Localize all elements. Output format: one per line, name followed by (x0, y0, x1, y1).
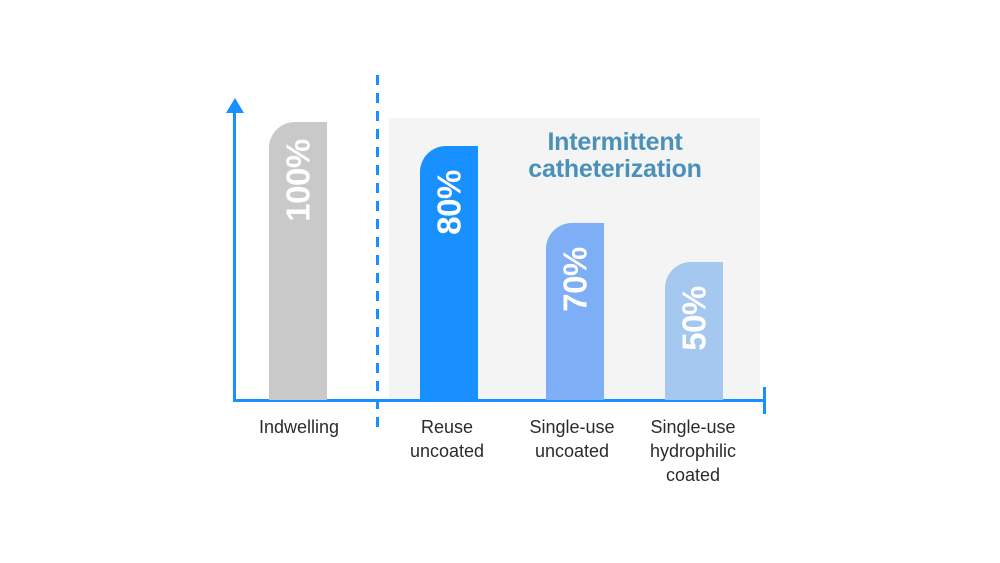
bar-single-use-uncoated: 70% (546, 223, 604, 400)
category-label-reuse-uncoated: Reuse uncoated (386, 416, 508, 464)
category-label-indwelling: Indwelling (218, 416, 380, 440)
bar-value-label: 80% (433, 170, 466, 235)
y-axis-line (233, 110, 236, 402)
category-label-line-1: Reuse (386, 416, 508, 440)
bar-indwelling: 100% (269, 122, 327, 400)
category-label-single-use-hydrophilic-coated: Single-use hydrophilic coated (630, 416, 756, 487)
bar-reuse-uncoated: 80% (420, 146, 478, 400)
group-title-line-1: Intermittent (470, 129, 760, 156)
group-title-line-2: catheterization (470, 156, 760, 183)
chart-figure: Intermittent catheterization 100% 80% 70… (0, 0, 1000, 563)
category-label-line-2: uncoated (386, 440, 508, 464)
category-label-line-2: uncoated (511, 440, 633, 464)
category-label-line-3: coated (630, 464, 756, 488)
group-divider-dashed-line (376, 75, 379, 430)
bar-value-label: 100% (282, 139, 315, 221)
intermittent-group-title: Intermittent catheterization (470, 129, 760, 183)
bar-value-label: 50% (678, 286, 711, 351)
category-label-line-1: Single-use (630, 416, 756, 440)
bar-single-use-hydrophilic-coated: 50% (665, 262, 723, 400)
category-label-single-use-uncoated: Single-use uncoated (511, 416, 633, 464)
bar-value-label: 70% (559, 247, 592, 312)
x-axis-end-tick (763, 387, 766, 414)
category-label-line-2: hydrophilic (630, 440, 756, 464)
category-label-line-1: Indwelling (218, 416, 380, 440)
category-label-line-1: Single-use (511, 416, 633, 440)
